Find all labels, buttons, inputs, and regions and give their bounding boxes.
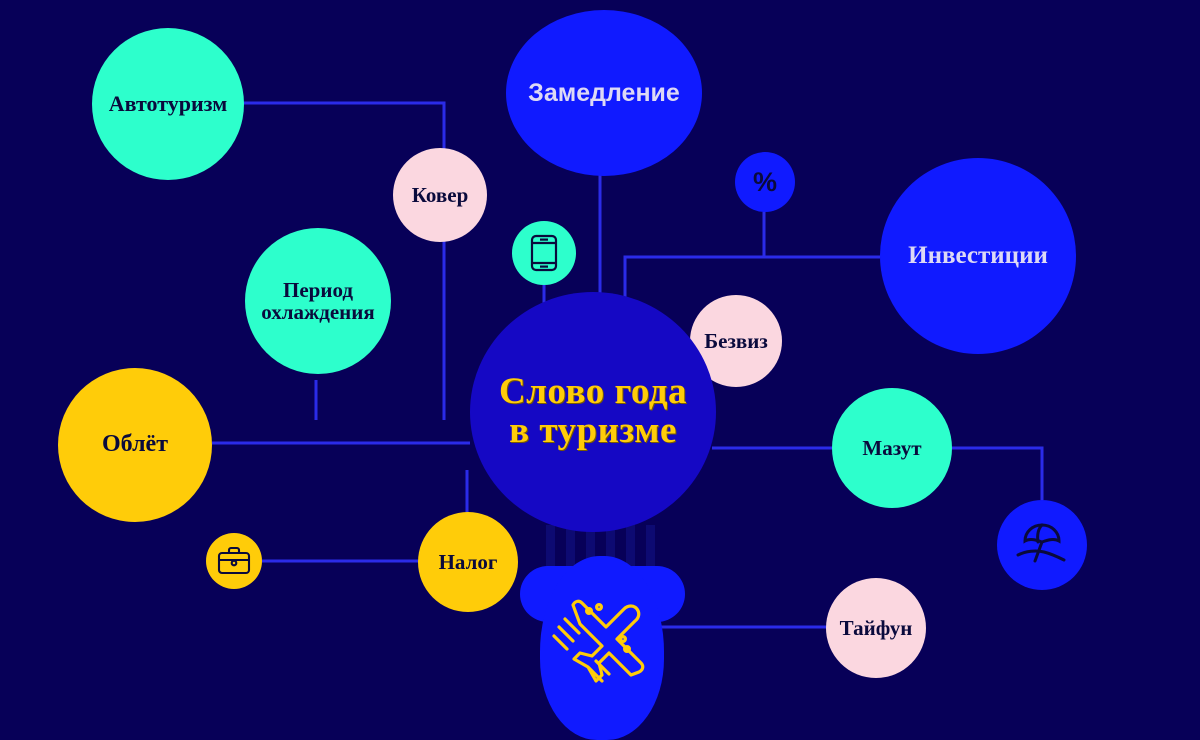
node-zamedlenie[interactable]: Замедление xyxy=(506,10,702,176)
airplane-glyph xyxy=(547,583,657,689)
center-node-slovo-goda[interactable]: Слово года в туризме xyxy=(470,292,716,532)
node-period-ohlazhdeniya[interactable]: Период охлаждения xyxy=(245,228,391,374)
node-label: Безвиз xyxy=(704,330,768,352)
node-kover[interactable]: Ковер xyxy=(393,148,487,242)
node-tayfun[interactable]: Тайфун xyxy=(826,578,926,678)
briefcase-icon[interactable] xyxy=(206,533,262,589)
node-investicii[interactable]: Инвестиции xyxy=(880,158,1076,354)
center-title-line1: Слово года xyxy=(499,373,687,412)
mobile-phone-icon[interactable] xyxy=(512,221,576,285)
center-title-line2: в туризме xyxy=(509,412,677,451)
node-oblyot[interactable]: Облёт xyxy=(58,368,212,522)
node-label: Автотуризм xyxy=(109,92,227,115)
percent-icon[interactable]: % xyxy=(735,152,795,212)
node-label: Ковер xyxy=(412,184,469,206)
node-label: Инвестиции xyxy=(908,243,1048,269)
node-label: Период охлаждения xyxy=(245,279,391,323)
infographic-canvas: Автотуризм Ковер Замедление Инвестиции П… xyxy=(0,0,1200,740)
percent-glyph: % xyxy=(753,167,777,198)
beach-umbrella-icon[interactable] xyxy=(997,500,1087,590)
beach-umbrella-glyph xyxy=(1013,519,1071,571)
briefcase-glyph xyxy=(217,546,251,576)
node-label: Замедление xyxy=(528,80,680,106)
node-label: Налог xyxy=(439,551,498,573)
node-nalog[interactable]: Налог xyxy=(418,512,518,612)
node-label: Тайфун xyxy=(840,617,913,639)
node-mazut[interactable]: Мазут xyxy=(832,388,952,508)
node-label: Облёт xyxy=(102,432,168,457)
mobile-phone-glyph xyxy=(529,234,559,272)
node-label: Мазут xyxy=(862,437,921,459)
node-avtoturizm[interactable]: Автотуризм xyxy=(92,28,244,180)
airplane-icon[interactable] xyxy=(540,556,664,740)
